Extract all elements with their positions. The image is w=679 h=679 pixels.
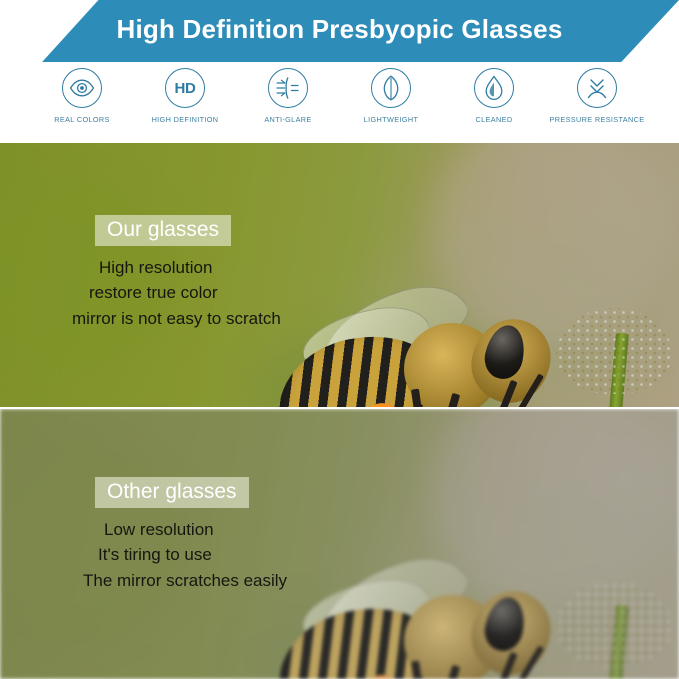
caption-line: The mirror scratches easily [83,568,287,594]
header-banner: High Definition Presbyopic Glasses [0,0,679,62]
feature-anti-glare: ANTI-GLARE [237,68,340,124]
feature-cleaned: CLEANED [443,68,546,124]
badge-our-glasses: Our glasses [95,215,231,246]
caption-line: mirror is not easy to scratch [72,306,281,332]
feature-label: ANTI-GLARE [264,115,311,124]
eye-icon [62,68,102,108]
feature-strip: REAL COLORS HD HIGH DEFINITION [0,68,679,140]
comparison-panel-bottom: Other glasses Low resolution It's tiring… [0,409,679,679]
pressure-resistance-icon [577,68,617,108]
caption-line: Low resolution [104,517,287,543]
caption-line: It's tiring to use [98,542,287,568]
feature-label: PRESSURE RESISTANCE [550,115,645,124]
water-drop-icon [474,68,514,108]
caption-line: restore true color [89,280,281,306]
feature-lightweight: LIGHTWEIGHT [340,68,443,124]
caption-our-glasses: Our glasses High resolution restore true… [95,215,281,332]
page-title: High Definition Presbyopic Glasses [0,0,679,62]
caption-line: High resolution [99,255,281,281]
feature-label: REAL COLORS [54,115,109,124]
product-infographic: High Definition Presbyopic Glasses REAL … [0,0,679,679]
caption-other-glasses: Other glasses Low resolution It's tiring… [95,477,287,594]
feature-label: LIGHTWEIGHT [364,115,419,124]
feature-pressure-resistance: PRESSURE RESISTANCE [546,68,649,124]
anti-glare-icon [268,68,308,108]
comparison-panel-top: Our glasses High resolution restore true… [0,143,679,407]
feature-label: HIGH DEFINITION [152,115,219,124]
badge-other-glasses: Other glasses [95,477,249,508]
feature-real-colors: REAL COLORS [31,68,134,124]
flower-right [556,308,672,394]
flower-right [556,581,672,667]
hd-icon: HD [165,68,205,108]
feature-label: CLEANED [476,115,513,124]
hd-icon-text: HD [174,81,195,96]
feather-icon [371,68,411,108]
feature-high-definition: HD HIGH DEFINITION [134,68,237,124]
